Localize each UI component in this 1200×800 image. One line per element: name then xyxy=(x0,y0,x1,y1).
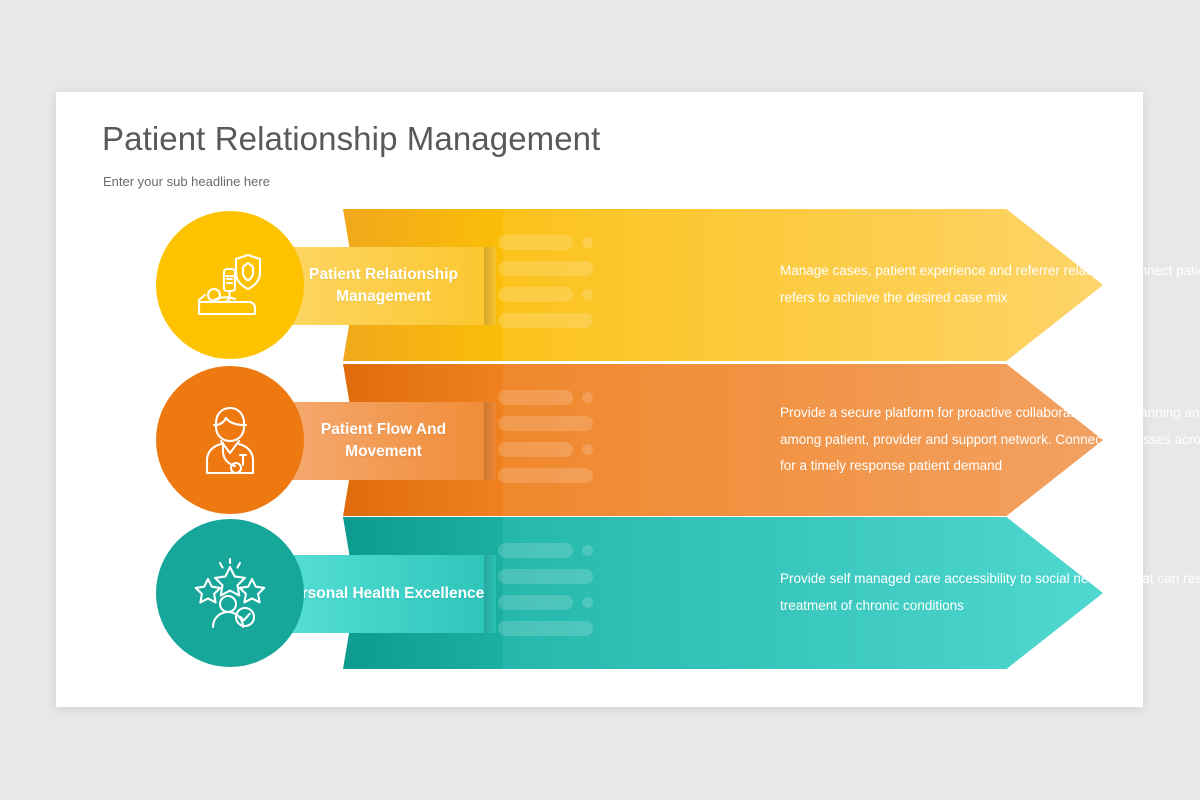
row-icon-circle[interactable] xyxy=(156,211,304,359)
row-description: Manage cases, patient experience and ref… xyxy=(780,209,1200,361)
row-label-ribbon[interactable]: Patient Flow And Movement xyxy=(271,402,496,480)
row-icon-circle[interactable] xyxy=(156,519,304,667)
decorative-bars xyxy=(498,390,623,490)
medical-professional-icon xyxy=(195,403,265,477)
row-label-text: Patient Flow And Movement xyxy=(271,419,496,464)
row-label-ribbon[interactable]: Patient Relationship Management xyxy=(271,247,496,325)
three-stars-person-check-icon xyxy=(190,557,270,629)
decorative-bars xyxy=(498,235,623,335)
row-description: Provide self managed care accessibility … xyxy=(780,517,1200,669)
patient-in-bed-shield-icon xyxy=(191,249,269,321)
row-label-text: Personal Health Excellence xyxy=(273,583,495,605)
row-icon-circle[interactable] xyxy=(156,366,304,514)
page-subtitle: Enter your sub headline here xyxy=(103,174,270,189)
decorative-bars xyxy=(498,543,623,643)
row-label-ribbon[interactable]: Personal Health Excellence xyxy=(271,555,496,633)
infographic-row[interactable]: Provide self managed care accessibility … xyxy=(56,517,1143,669)
row-description: Provide a secure platform for proactive … xyxy=(780,364,1200,516)
row-label-text: Patient Relationship Management xyxy=(271,264,496,309)
infographic-row[interactable]: Manage cases, patient experience and ref… xyxy=(56,209,1143,361)
page-title: Patient Relationship Management xyxy=(102,120,600,158)
infographic-row[interactable]: Provide a secure platform for proactive … xyxy=(56,364,1143,516)
slide-canvas: Patient Relationship Management Enter yo… xyxy=(56,92,1143,707)
